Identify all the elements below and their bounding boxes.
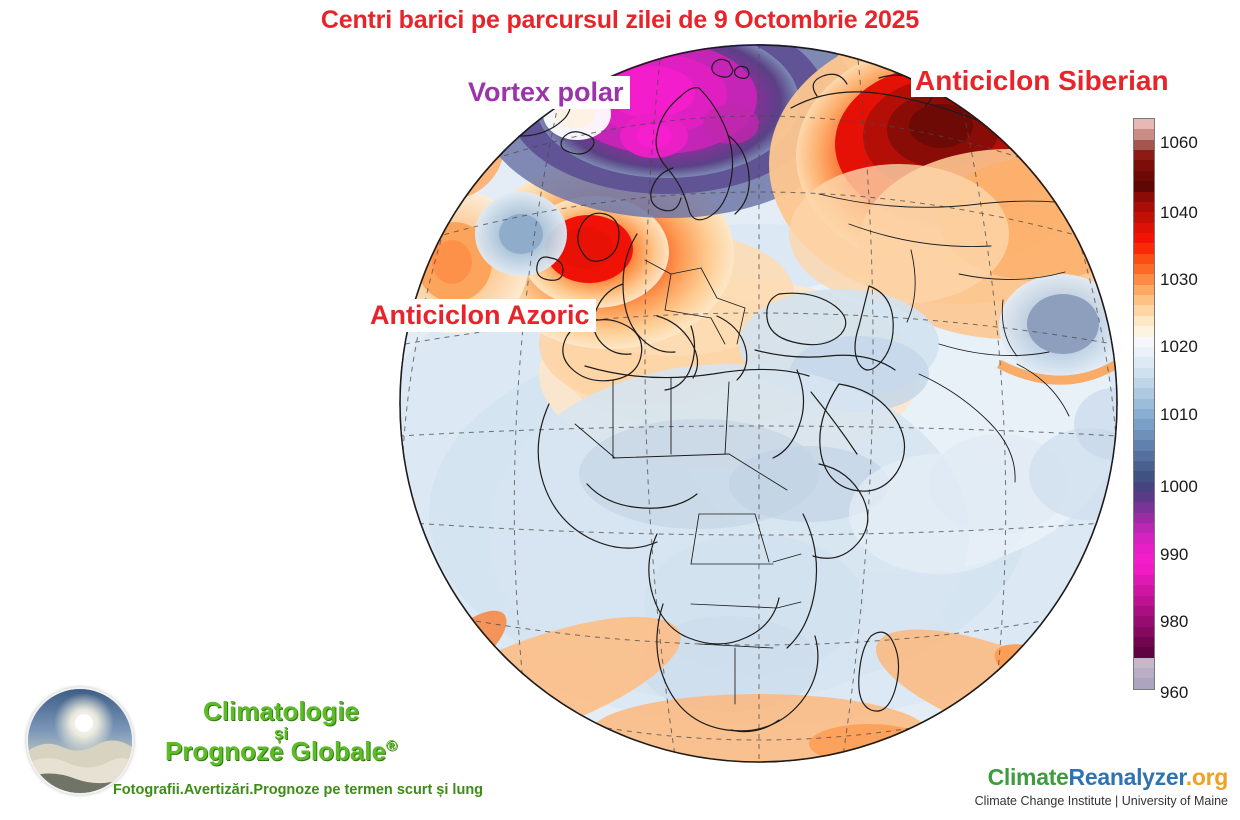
credit-wordmark: ClimateReanalyzer.org — [975, 764, 1228, 791]
colorbar-swatch — [1134, 554, 1154, 564]
colorbar-swatch — [1134, 627, 1154, 637]
colorbar-swatch — [1134, 461, 1154, 471]
colorbar-tick-980: 980 — [1160, 612, 1188, 632]
logo-line-prognoze-globale: Prognoze Globale® — [86, 738, 476, 764]
colorbar-swatch — [1134, 388, 1154, 398]
colorbar-swatch — [1134, 160, 1154, 170]
registered-mark-icon: ® — [386, 737, 397, 754]
page-title: Centri barici pe parcursul zilei de 9 Oc… — [0, 6, 1240, 35]
site-logo-block[interactable]: Climatologie și Prognoze Globale® Fotogr… — [26, 684, 476, 804]
credit-part-org: .org — [1186, 764, 1228, 790]
annotation-anticiclon-siberian-text: Anticiclon Siberian — [911, 64, 1173, 97]
colorbar-swatch — [1134, 502, 1154, 512]
logo-line-prognoze-globale-text: Prognoze Globale — [165, 736, 386, 766]
logo-wordmark: Climatologie și Prognoze Globale® — [86, 684, 476, 764]
globe-map[interactable] — [399, 44, 1118, 763]
colorbar-swatch — [1134, 140, 1154, 150]
colorbar-swatch — [1134, 223, 1154, 233]
logo-line-climatologie: Climatologie — [86, 698, 476, 724]
colorbar-swatch — [1134, 274, 1154, 284]
colorbar-swatch — [1134, 430, 1154, 440]
colorbar-swatch — [1134, 440, 1154, 450]
colorbar-swatch — [1134, 482, 1154, 492]
colorbar-tick-990: 990 — [1160, 545, 1188, 565]
colorbar-swatch — [1134, 212, 1154, 222]
annotation-vortex-polar: Vortex polar — [462, 76, 630, 109]
credit-part-climate: Climate — [988, 764, 1069, 790]
logo-tagline: Fotografii.Avertizări.Prognoze pe termen… — [88, 782, 508, 798]
colorbar-swatch — [1134, 233, 1154, 243]
colorbar-swatch — [1134, 544, 1154, 554]
colorbar-tick-1040: 1040 — [1160, 203, 1198, 223]
colorbar-swatch — [1134, 305, 1154, 315]
colorbar-swatch — [1134, 264, 1154, 274]
colorbar-swatch — [1134, 285, 1154, 295]
colorbar-swatch — [1134, 347, 1154, 357]
colorbar-swatch — [1134, 171, 1154, 181]
colorbar-swatch — [1134, 129, 1154, 139]
colorbar-swatch — [1134, 523, 1154, 533]
colorbar-swatch — [1134, 513, 1154, 523]
colorbar-swatch — [1134, 471, 1154, 481]
annotation-anticiclon-azoric: Anticiclon Azoric — [364, 299, 596, 332]
colorbar-swatch — [1134, 378, 1154, 388]
pressure-field-svg — [399, 44, 1118, 763]
colorbar-swatch — [1134, 368, 1154, 378]
colorbar-swatch — [1134, 596, 1154, 606]
colorbar-swatch — [1134, 254, 1154, 264]
colorbar-swatch — [1134, 585, 1154, 595]
colorbar-swatch — [1134, 668, 1154, 678]
colorbar-swatch — [1134, 119, 1154, 129]
colorbar-swatch — [1134, 150, 1154, 160]
colorbar-swatch — [1134, 181, 1154, 191]
colorbar-swatch — [1134, 357, 1154, 367]
colorbar-swatch — [1134, 399, 1154, 409]
credit-subtitle: Climate Change Institute | University of… — [975, 794, 1228, 808]
colorbar-swatch — [1134, 564, 1154, 574]
colorbar-swatch — [1134, 616, 1154, 626]
colorbar-swatch — [1134, 243, 1154, 253]
colorbar-swatch — [1134, 658, 1154, 668]
credit-part-reanalyzer: Reanalyzer — [1069, 764, 1186, 790]
pressure-colorbar — [1133, 118, 1155, 690]
colorbar-swatch — [1134, 678, 1154, 688]
colorbar-tick-1000: 1000 — [1160, 477, 1198, 497]
colorbar-tick-labels: 106010401030102010101000990980960 — [1160, 110, 1236, 698]
colorbar-swatch — [1134, 409, 1154, 419]
colorbar-tick-1060: 1060 — [1160, 133, 1198, 153]
colorbar-swatch — [1134, 337, 1154, 347]
colorbar-swatch — [1134, 316, 1154, 326]
colorbar-swatch — [1134, 575, 1154, 585]
colorbar-swatch — [1134, 451, 1154, 461]
colorbar-swatch — [1134, 295, 1154, 305]
colorbar-swatch — [1134, 533, 1154, 543]
climate-reanalyzer-credit[interactable]: ClimateReanalyzer.org Climate Change Ins… — [975, 764, 1228, 808]
colorbar-tick-1010: 1010 — [1160, 405, 1198, 425]
colorbar-swatch — [1134, 419, 1154, 429]
colorbar-swatch — [1134, 326, 1154, 336]
colorbar-swatch — [1134, 637, 1154, 647]
colorbar-tick-960: 960 — [1160, 683, 1188, 703]
colorbar-swatch — [1134, 202, 1154, 212]
colorbar-swatch — [1134, 647, 1154, 657]
colorbar-swatch — [1134, 192, 1154, 202]
globe-disc — [399, 44, 1118, 763]
annotation-anticiclon-siberian: Anticiclon Siberian — [905, 64, 1179, 98]
colorbar-swatch — [1134, 606, 1154, 616]
colorbar-tick-1020: 1020 — [1160, 337, 1198, 357]
colorbar-swatch — [1134, 492, 1154, 502]
colorbar-tick-1030: 1030 — [1160, 270, 1198, 290]
